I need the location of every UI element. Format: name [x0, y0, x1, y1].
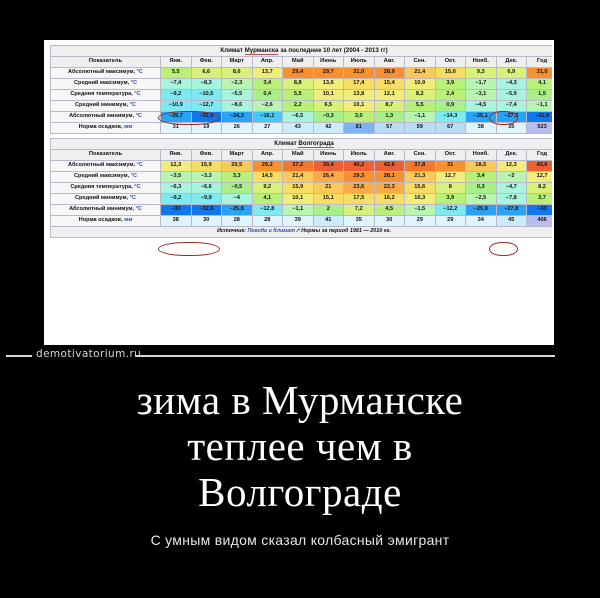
data-cell: 12,3 — [496, 161, 527, 172]
data-cell: 30 — [191, 216, 222, 227]
data-cell: −4 — [222, 194, 253, 205]
row-label: Абсолютный минимум, °C — [51, 205, 161, 216]
data-cell: −4,3 — [496, 79, 527, 90]
row-label-text: Средний максимум, — [74, 80, 131, 86]
data-cell: 29 — [405, 216, 436, 227]
table-row: Абсолютный минимум, °C−33−32,5−25,8−12,8… — [51, 205, 555, 216]
data-cell: 10,1 — [283, 194, 314, 205]
row-label: Средний минимум, °C — [51, 101, 161, 112]
column-header-oct: Окт. — [435, 57, 466, 68]
data-cell: 45 — [496, 216, 527, 227]
row-unit: °C — [136, 206, 142, 212]
row-unit: °C — [131, 173, 137, 179]
data-cell: −10,9 — [161, 101, 192, 112]
column-header-feb: Фев. — [191, 57, 222, 68]
data-cell: 1,5 — [527, 90, 555, 101]
data-cell: 3,7 — [527, 194, 555, 205]
row-unit: °C — [130, 102, 136, 108]
data-cell: 8 — [435, 183, 466, 194]
data-cell: 8,2 — [405, 90, 436, 101]
table-header-row: Показатель Янв. Фев. Март Апр. Май Июнь … — [51, 150, 555, 161]
watermark-rule-left — [6, 355, 32, 357]
data-cell: 42 — [313, 123, 344, 134]
table-row: Абсолютный максимум, °C12,315,920,529,23… — [51, 161, 555, 172]
data-cell: 12,3 — [161, 161, 192, 172]
data-cell: 15,9 — [191, 161, 222, 172]
table-caption-volgograd: Климат Волгограда — [51, 139, 555, 150]
data-cell: 9,2 — [252, 183, 283, 194]
data-cell: 37,2 — [283, 161, 314, 172]
row-label: Средний минимум, °C — [51, 194, 161, 205]
data-cell: −9,2 — [161, 90, 192, 101]
data-cell: 523 — [527, 123, 555, 134]
data-cell: −9,2 — [161, 194, 192, 205]
data-cell: −4,7 — [496, 183, 527, 194]
data-cell: 1,3 — [374, 112, 405, 123]
data-cell: 9,3 — [466, 68, 497, 79]
data-cell: 28,1 — [374, 172, 405, 183]
data-cell: 18,5 — [466, 161, 497, 172]
data-cell: 31 — [161, 123, 192, 134]
data-cell: −8,6 — [222, 101, 253, 112]
data-cell: 2,4 — [435, 90, 466, 101]
data-cell: 21,4 — [405, 68, 436, 79]
data-cell: −0,3 — [313, 112, 344, 123]
row-label-text: Средний максимум, — [74, 173, 131, 179]
data-cell: 28,9 — [374, 68, 405, 79]
data-cell: 26,4 — [313, 172, 344, 183]
column-header-sep: Сен. — [405, 150, 436, 161]
climate-screenshot: Климат Мурманска за последние 10 лет (20… — [46, 42, 552, 343]
row-label-text: Средняя температура, — [70, 184, 134, 190]
data-cell: 16,2 — [374, 194, 405, 205]
climate-table-murmansk: Климат Мурманска за последние 10 лет (20… — [50, 45, 554, 134]
column-header-mar: Март — [222, 57, 253, 68]
data-cell: 41 — [313, 216, 344, 227]
data-cell: 6,5 — [313, 101, 344, 112]
data-cell: 3,3 — [222, 172, 253, 183]
row-unit: °C — [136, 113, 142, 119]
data-cell: −0,5 — [222, 183, 253, 194]
table-header-row: Показатель Янв. Фев. Март Апр. Май Июнь … — [51, 57, 555, 68]
volgograd-jan-feb-avg-circle — [158, 242, 220, 256]
table-row: Средняя температура, °C−6,3−6,6−0,59,215… — [51, 183, 555, 194]
watermark-rule-right — [135, 355, 555, 357]
data-cell: −12,2 — [435, 205, 466, 216]
table-caption-row: Климат Мурманска за последние 10 лет (20… — [51, 46, 555, 57]
data-cell: −6,6 — [191, 183, 222, 194]
data-cell: −9,9 — [191, 194, 222, 205]
source-note: Источник: Погода и Климат↗ Нормы за пери… — [51, 227, 555, 238]
data-cell: −7,8 — [496, 194, 527, 205]
data-cell: −12,8 — [252, 205, 283, 216]
data-cell: 4,1 — [252, 194, 283, 205]
data-cell: 10,1 — [313, 90, 344, 101]
row-label: Норма осадков, мм — [51, 123, 161, 134]
source-row: Источник: Погода и Климат↗ Нормы за пери… — [51, 227, 555, 238]
row-unit: °C — [131, 80, 137, 86]
table-row: Средний максимум, °C−7,4−8,3−2,33,48,813… — [51, 79, 555, 90]
data-cell: 28 — [252, 216, 283, 227]
data-cell: −29,7 — [161, 112, 192, 123]
data-cell: 35 — [496, 123, 527, 134]
data-cell: 21 — [313, 183, 344, 194]
data-cell: 5,5 — [283, 90, 314, 101]
data-cell: 13,7 — [252, 68, 283, 79]
data-cell: 42,6 — [527, 161, 555, 172]
data-cell: 10,3 — [405, 194, 436, 205]
data-cell: 5,5 — [405, 101, 436, 112]
table-caption-row: Климат Волгограда — [51, 139, 555, 150]
watermark-label: demotivatorium.ru — [36, 348, 141, 360]
data-cell: −31,9 — [191, 112, 222, 123]
row-label: Средняя температура, °C — [51, 183, 161, 194]
table-caption-murmansk: Климат Мурманска за последние 10 лет (20… — [51, 46, 555, 57]
source-period-note: Нормы за период 1981 — 2010 гг. — [300, 228, 391, 234]
data-cell: 26 — [222, 123, 253, 134]
data-cell: −6,5 — [283, 112, 314, 123]
data-cell: 31,0 — [527, 68, 555, 79]
data-cell: 42,6 — [374, 161, 405, 172]
column-header-jul: Июль — [344, 57, 375, 68]
caption-city: Мурманска — [245, 47, 279, 54]
climate-table-volgograd: Климат Волгограда Показатель Янв. Фев. М… — [50, 138, 554, 238]
data-cell: −3,1 — [466, 90, 497, 101]
data-cell: 8,7 — [374, 101, 405, 112]
row-label: Абсолютный минимум, °C — [51, 112, 161, 123]
data-cell: 31 — [435, 161, 466, 172]
data-cell: 31,0 — [344, 68, 375, 79]
row-label-text: Норма осадков, — [79, 124, 124, 130]
column-header-sep: Сен. — [405, 57, 436, 68]
row-unit: °C — [134, 91, 140, 97]
data-cell: 2 — [313, 205, 344, 216]
caption-suffix: за последние 10 лет (2004 - 2013 гг) — [278, 47, 387, 54]
column-header-jun: Июнь — [313, 57, 344, 68]
table-row: Средняя температура, °C−9,2−10,5−5,50,45… — [51, 90, 555, 101]
screenshot-frame: Климат Мурманска за последние 10 лет (20… — [44, 40, 554, 345]
row-label-text: Абсолютный максимум, — [68, 69, 137, 75]
data-cell: −16,1 — [252, 112, 283, 123]
data-cell: 29,7 — [313, 68, 344, 79]
data-cell: 21,4 — [283, 172, 314, 183]
volgograd-dec-avg-circle — [489, 242, 518, 256]
table-row: Норма осадков, мм31192627434281575967383… — [51, 123, 555, 134]
title-line-2: теплее чем в — [0, 424, 600, 470]
data-cell: 8,6 — [222, 68, 253, 79]
data-cell: −33 — [527, 205, 555, 216]
row-label-text: Абсолютный максимум, — [68, 162, 137, 168]
column-header-dec: Дек. — [496, 150, 527, 161]
row-label-text: Средний минимум, — [75, 102, 130, 108]
data-cell: −25,8 — [466, 205, 497, 216]
data-cell: −1,1 — [527, 101, 555, 112]
data-cell: 37,8 — [405, 161, 436, 172]
data-cell: 28 — [222, 216, 253, 227]
table-row: Средний минимум, °C−9,2−9,9−44,110,115,1… — [51, 194, 555, 205]
table-row: Средний минимум, °C−10,9−12,7−8,6−2,62,2… — [51, 101, 555, 112]
data-cell: 13,8 — [344, 90, 375, 101]
row-label-text: Норма осадков, — [79, 217, 124, 223]
row-label: Средняя температура, °C — [51, 90, 161, 101]
data-cell: 12,7 — [435, 172, 466, 183]
data-cell: −4,5 — [466, 101, 497, 112]
data-cell: 3,9 — [435, 194, 466, 205]
data-cell: 38 — [466, 123, 497, 134]
data-cell: 8,2 — [527, 183, 555, 194]
row-label: Средний максимум, °C — [51, 172, 161, 183]
data-cell: −3,5 — [161, 172, 192, 183]
data-cell: 8,8 — [283, 79, 314, 90]
row-label-text: Средняя температура, — [70, 91, 134, 97]
data-cell: 6,9 — [496, 68, 527, 79]
table-row: Норма осадков, мм38302828394135302929344… — [51, 216, 555, 227]
column-header-jul: Июль — [344, 150, 375, 161]
data-cell: 35 — [344, 216, 375, 227]
data-cell: 15,0 — [435, 68, 466, 79]
row-unit: мм — [124, 217, 132, 223]
data-cell: 4,1 — [527, 79, 555, 90]
row-unit: мм — [124, 124, 132, 130]
data-cell: 38 — [161, 216, 192, 227]
row-unit: °C — [137, 162, 143, 168]
data-cell: 406 — [527, 216, 555, 227]
column-header-nov: Нояб. — [466, 57, 497, 68]
data-cell: −27,5 — [496, 112, 527, 123]
data-cell: 27 — [252, 123, 283, 134]
data-cell: −14,3 — [435, 112, 466, 123]
table-row: Средний максимум, °C−3,5−3,33,314,521,42… — [51, 172, 555, 183]
source-link[interactable]: Погода и Климат — [248, 228, 296, 234]
column-header-jan: Янв. — [161, 150, 192, 161]
data-cell: −2 — [496, 172, 527, 183]
data-cell: 29,4 — [283, 68, 314, 79]
data-cell: −2,5 — [466, 194, 497, 205]
data-cell: 0,3 — [466, 183, 497, 194]
row-unit: °C — [137, 69, 143, 75]
column-header-year: Год — [527, 150, 555, 161]
data-cell: 6,6 — [191, 68, 222, 79]
data-cell: −1,7 — [466, 79, 497, 90]
data-cell: −5,9 — [496, 90, 527, 101]
data-cell: −8,3 — [191, 79, 222, 90]
data-cell: 29 — [435, 216, 466, 227]
data-cell: 57 — [374, 123, 405, 134]
data-cell: −3,3 — [191, 172, 222, 183]
watermark-bar: demotivatorium.ru — [0, 347, 600, 363]
data-cell: 29,2 — [252, 161, 283, 172]
column-header-oct: Окт. — [435, 150, 466, 161]
data-cell: −6,3 — [161, 183, 192, 194]
data-cell: 3,4 — [252, 79, 283, 90]
data-cell: 15,1 — [313, 194, 344, 205]
data-cell: 39 — [283, 216, 314, 227]
column-header-aug: Авг. — [374, 57, 405, 68]
data-cell: 29,3 — [344, 172, 375, 183]
row-label-text: Абсолютный минимум, — [69, 113, 136, 119]
demotivator-subtitle: С умным видом сказал колбасный эмигрант — [0, 532, 600, 548]
data-cell: 0,4 — [252, 90, 283, 101]
data-cell: 81 — [344, 123, 375, 134]
column-header-apr: Апр. — [252, 57, 283, 68]
data-cell: 15,9 — [283, 183, 314, 194]
data-cell: 12,7 — [527, 172, 555, 183]
data-cell: 20,5 — [222, 161, 253, 172]
data-cell: 3,4 — [466, 172, 497, 183]
data-cell: −1,5 — [405, 205, 436, 216]
data-cell: 23,6 — [344, 183, 375, 194]
data-cell: −10,5 — [191, 90, 222, 101]
data-cell: 34 — [466, 216, 497, 227]
caption-prefix: Климат — [274, 140, 298, 147]
table-row: Абсолютный максимум, °C5,56,68,613,729,4… — [51, 68, 555, 79]
title-line-3: Волгограде — [0, 470, 600, 516]
column-header-indicator: Показатель — [51, 57, 161, 68]
data-cell: 40,2 — [344, 161, 375, 172]
data-cell: −25,8 — [222, 205, 253, 216]
data-cell: 22,3 — [374, 183, 405, 194]
row-label: Норма осадков, мм — [51, 216, 161, 227]
demotivator-title: зима в Мурманске теплее чем в Волгограде — [0, 378, 600, 516]
data-cell: −7,4 — [496, 101, 527, 112]
column-header-jan: Янв. — [161, 57, 192, 68]
column-header-dec: Дек. — [496, 57, 527, 68]
data-cell: 14,5 — [252, 172, 283, 183]
data-cell: 10,9 — [405, 79, 436, 90]
table-row: Абсолютный минимум, °C−29,7−31,9−24,3−16… — [51, 112, 555, 123]
data-cell: −5,5 — [222, 90, 253, 101]
data-cell: −33 — [161, 205, 192, 216]
data-cell: 10,1 — [344, 101, 375, 112]
row-unit: °C — [134, 184, 140, 190]
data-cell: −24,3 — [222, 112, 253, 123]
caption-city: Волгограда — [298, 140, 333, 147]
data-cell: −2,3 — [222, 79, 253, 90]
data-cell: 3,0 — [344, 112, 375, 123]
data-cell: 43 — [283, 123, 314, 134]
data-cell: −2,6 — [252, 101, 283, 112]
data-cell: −31,9 — [527, 112, 555, 123]
column-header-feb: Фев. — [191, 150, 222, 161]
data-cell: −7,4 — [161, 79, 192, 90]
column-header-jun: Июнь — [313, 150, 344, 161]
data-cell: 17,5 — [344, 194, 375, 205]
data-cell: 15,6 — [405, 183, 436, 194]
data-cell: 7,2 — [344, 205, 375, 216]
column-header-indicator: Показатель — [51, 150, 161, 161]
row-label: Средний максимум, °C — [51, 79, 161, 90]
caption-prefix: Климат — [220, 47, 244, 54]
data-cell: 15,4 — [374, 79, 405, 90]
data-cell: 59 — [405, 123, 436, 134]
title-line-1: зима в Мурманске — [0, 378, 600, 424]
data-cell: −27,8 — [496, 205, 527, 216]
column-header-apr: Апр. — [252, 150, 283, 161]
data-cell: 3,9 — [435, 79, 466, 90]
column-header-may: Май — [283, 57, 314, 68]
row-label: Абсолютный максимум, °C — [51, 161, 161, 172]
row-label: Абсолютный максимум, °C — [51, 68, 161, 79]
data-cell: 0,9 — [435, 101, 466, 112]
data-cell: 17,4 — [344, 79, 375, 90]
data-cell: 12,1 — [374, 90, 405, 101]
data-cell: 4,5 — [374, 205, 405, 216]
data-cell: −1,1 — [283, 205, 314, 216]
data-cell: −25,1 — [466, 112, 497, 123]
row-label-text: Средний минимум, — [75, 195, 130, 201]
source-label: Источник: — [217, 228, 247, 234]
data-cell: −12,7 — [191, 101, 222, 112]
data-cell: 5,5 — [161, 68, 192, 79]
data-cell: 19 — [191, 123, 222, 134]
data-cell: 21,3 — [405, 172, 436, 183]
row-label-text: Абсолютный минимум, — [69, 206, 136, 212]
column-header-year: Год — [527, 57, 555, 68]
data-cell: 2,2 — [283, 101, 314, 112]
column-header-may: Май — [283, 150, 314, 161]
data-cell: 39,4 — [313, 161, 344, 172]
data-cell: 13,6 — [313, 79, 344, 90]
column-header-aug: Авг. — [374, 150, 405, 161]
data-cell: −32,5 — [191, 205, 222, 216]
data-cell: −1,1 — [405, 112, 436, 123]
column-header-mar: Март — [222, 150, 253, 161]
data-cell: 67 — [435, 123, 466, 134]
data-cell: 30 — [374, 216, 405, 227]
row-unit: °C — [130, 195, 136, 201]
column-header-nov: Нояб. — [466, 150, 497, 161]
